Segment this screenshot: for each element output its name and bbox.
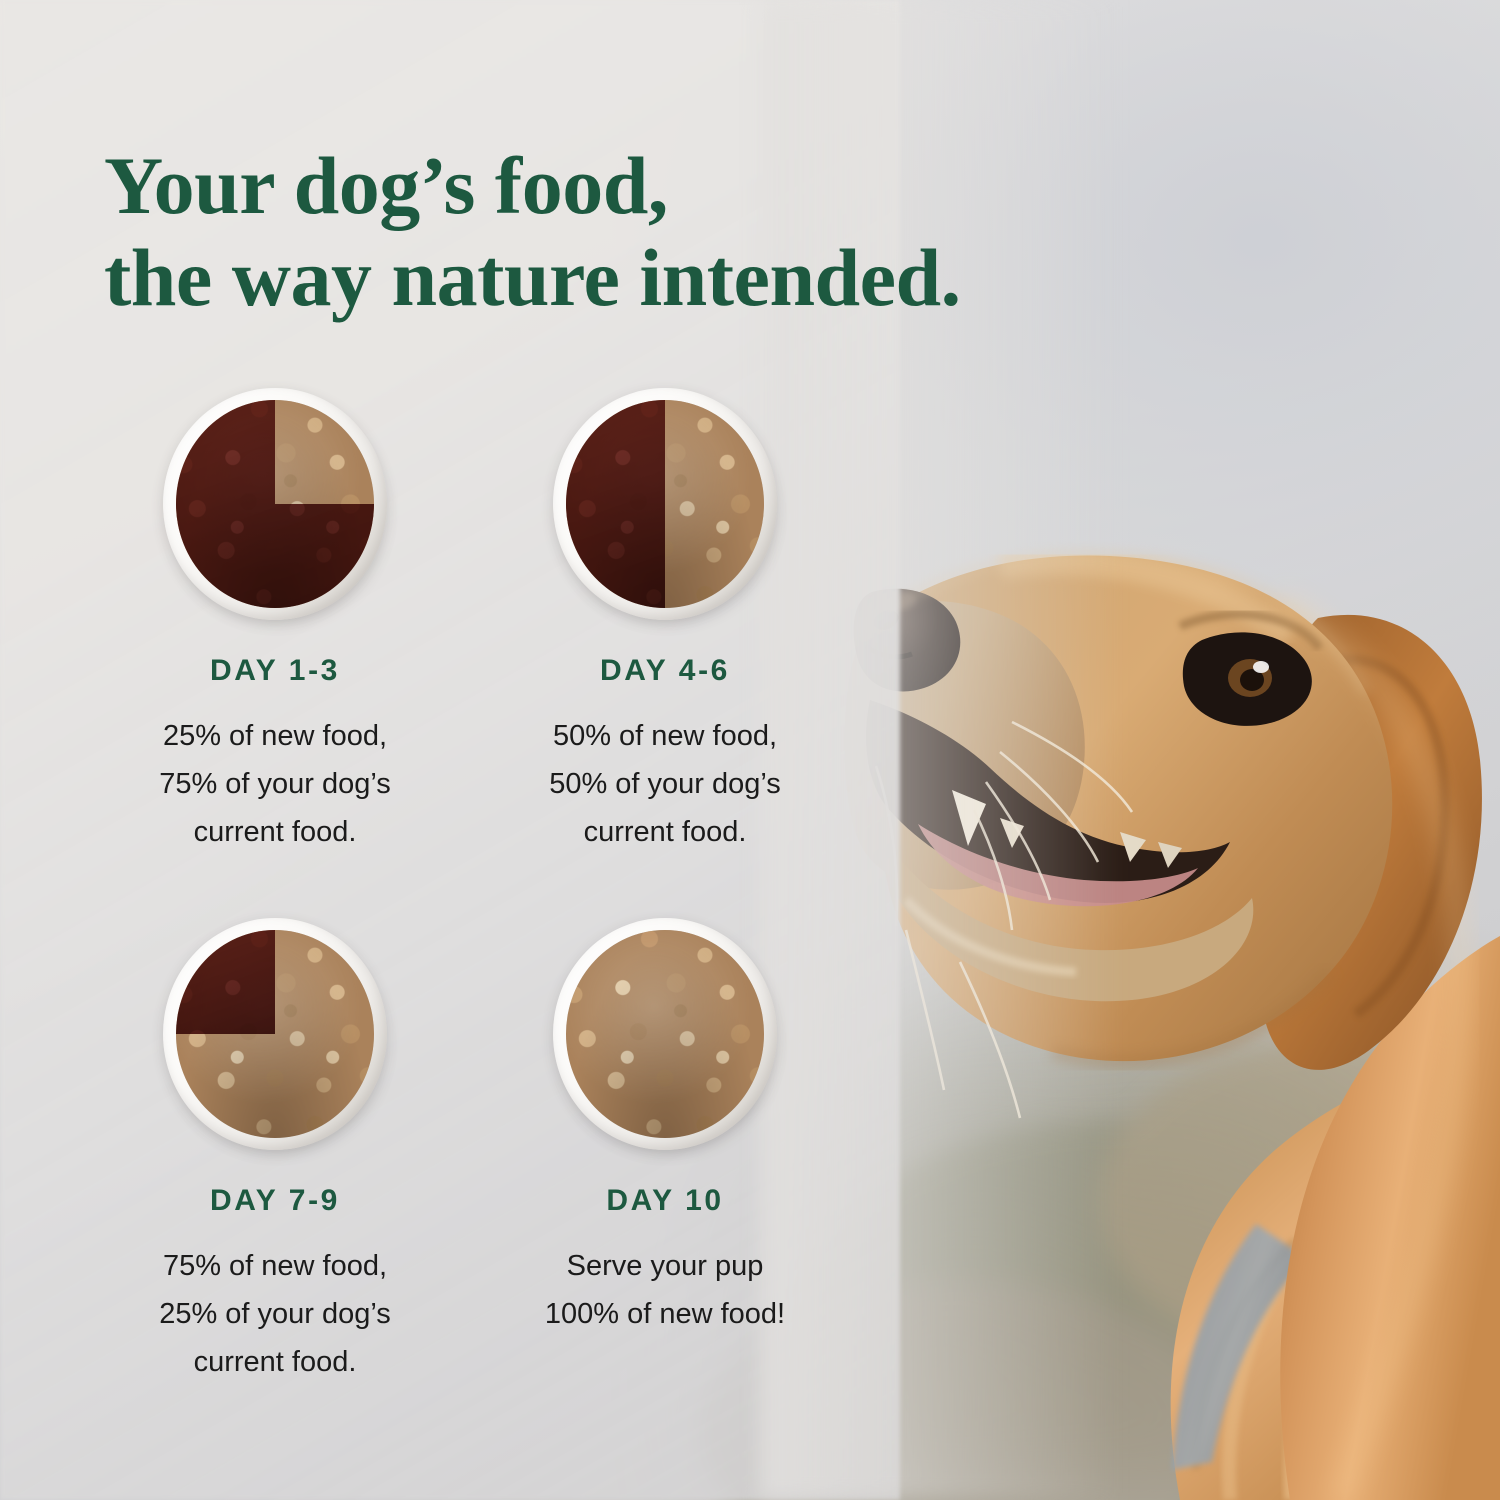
transition-schedule: DAY 1-3 25% of new food, 75% of your dog… <box>0 388 900 1448</box>
old-food-region <box>176 930 275 1034</box>
description-day-7-9: 75% of new food, 25% of your dog’s curre… <box>80 1242 470 1386</box>
old-food-region <box>566 400 665 608</box>
description-day-4-6: 50% of new food, 50% of your dog’s curre… <box>470 712 860 856</box>
desc-line: 75% of your dog’s <box>80 760 470 808</box>
day-label-10: DAY 10 <box>470 1184 860 1218</box>
dog-bowl-icon-day-4-6 <box>553 388 777 620</box>
headline-line-1: Your dog’s food, <box>104 140 668 231</box>
day-label-4-6: DAY 4-6 <box>470 654 860 688</box>
bowl-interior <box>566 930 764 1138</box>
desc-line: 25% of new food, <box>80 712 470 760</box>
infographic-canvas: Your dog’s food, the way nature intended… <box>0 0 1500 1500</box>
description-day-10: Serve your pup 100% of new food! <box>470 1242 860 1338</box>
new-food-kibble <box>566 930 764 1138</box>
step-day-1-3: DAY 1-3 25% of new food, 75% of your dog… <box>80 388 470 856</box>
dog-bowl-icon-day-7-9 <box>163 918 387 1150</box>
bowl-rim <box>553 918 777 1150</box>
bowl-rim <box>553 388 777 620</box>
step-row-1: DAY 1-3 25% of new food, 75% of your dog… <box>0 388 900 918</box>
desc-line: 25% of your dog’s <box>80 1290 470 1338</box>
bowl-rim <box>163 388 387 620</box>
desc-line: current food. <box>470 808 860 856</box>
day-label-7-9: DAY 7-9 <box>80 1184 470 1218</box>
step-row-2: DAY 7-9 75% of new food, 25% of your dog… <box>0 918 900 1448</box>
bowl-interior <box>566 400 764 608</box>
step-day-4-6: DAY 4-6 50% of new food, 50% of your dog… <box>470 388 860 856</box>
day-label-1-3: DAY 1-3 <box>80 654 470 688</box>
desc-line: Serve your pup <box>470 1242 860 1290</box>
bowl-interior <box>176 400 374 608</box>
desc-line: 75% of new food, <box>80 1242 470 1290</box>
desc-line: current food. <box>80 808 470 856</box>
bowl-rim <box>163 918 387 1150</box>
step-day-7-9: DAY 7-9 75% of new food, 25% of your dog… <box>80 918 470 1386</box>
desc-line: 100% of new food! <box>470 1290 860 1338</box>
desc-line: 50% of new food, <box>470 712 860 760</box>
desc-line: 50% of your dog’s <box>470 760 860 808</box>
dog-bowl-icon-day-1-3 <box>163 388 387 620</box>
step-day-10: DAY 10 Serve your pup 100% of new food! <box>470 918 860 1338</box>
description-day-1-3: 25% of new food, 75% of your dog’s curre… <box>80 712 470 856</box>
bowl-interior <box>176 930 374 1138</box>
page-title: Your dog’s food, the way nature intended… <box>104 140 1164 324</box>
headline-line-2: the way nature intended. <box>104 232 1164 324</box>
desc-line: current food. <box>80 1338 470 1386</box>
dog-bowl-icon-day-10 <box>553 918 777 1150</box>
